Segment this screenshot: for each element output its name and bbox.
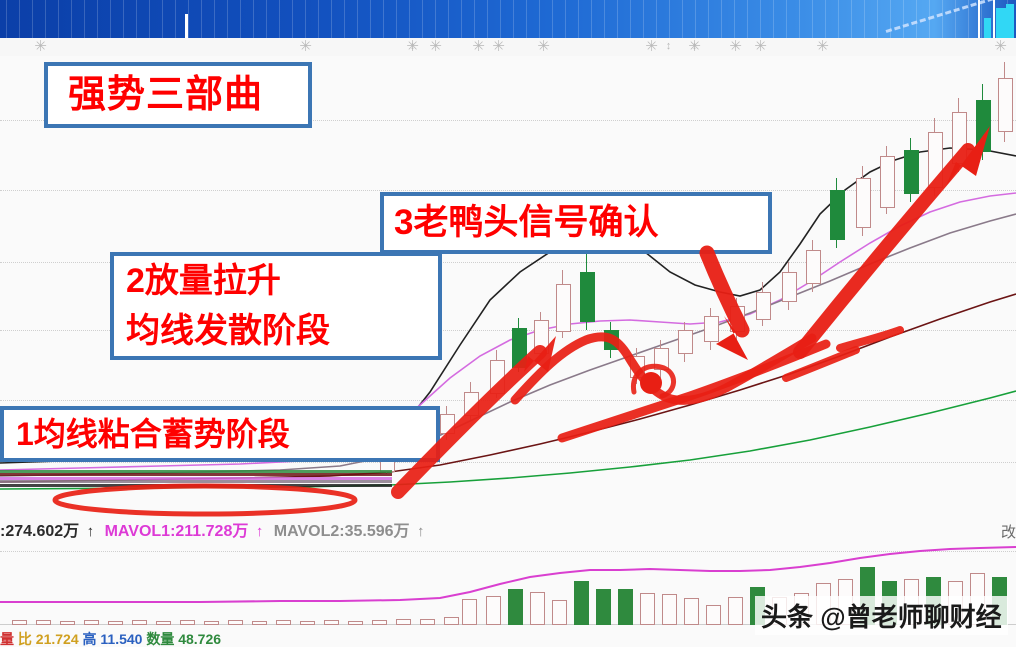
band-stripe	[890, 0, 891, 38]
candlestick	[730, 56, 743, 519]
candle-body	[464, 392, 479, 416]
band-stripe	[903, 0, 904, 38]
volume-value: :274.602万	[0, 519, 79, 545]
candle-body	[952, 112, 967, 164]
candle-body	[512, 328, 527, 368]
band-stripe	[747, 0, 748, 38]
band-stripe	[851, 0, 852, 38]
panel-edit-glyph[interactable]: 改	[1001, 521, 1016, 542]
indicator-info-bar: :274.602万 ↑ MAVOL1:211.728万 ↑ MAVOL2:35.…	[0, 519, 1016, 546]
band-stripe	[97, 0, 98, 38]
band-stripe	[773, 0, 774, 38]
star-marker-icon: ✳	[299, 40, 312, 53]
band-stripe	[487, 0, 488, 38]
band-stripe	[838, 0, 839, 38]
candle-body	[806, 250, 821, 284]
star-marker-icon: ✳	[472, 40, 485, 53]
band-stripe	[708, 0, 709, 38]
mavol1-up-arrow-icon: ↑	[253, 519, 270, 545]
candlestick	[704, 56, 717, 519]
band-stripe	[669, 0, 670, 38]
mavol1-polyline	[0, 547, 1016, 602]
band-spike	[185, 14, 188, 38]
band-stripe	[656, 0, 657, 38]
candlestick	[756, 56, 769, 519]
band-stripe	[448, 0, 449, 38]
band-stripe	[734, 0, 735, 38]
band-stripe	[84, 0, 85, 38]
candlestick	[904, 56, 917, 519]
candle-body	[604, 330, 619, 350]
band-stripe	[32, 0, 33, 38]
band-stripe	[786, 0, 787, 38]
band-stripe	[396, 0, 397, 38]
star-marker-icon: ✳	[645, 40, 658, 53]
candlestick	[556, 56, 569, 519]
mavol1-value: MAVOL1:211.728万	[105, 519, 249, 545]
annotation-title-text: 强势三部曲	[48, 66, 308, 124]
band-stripe	[682, 0, 683, 38]
band-stripe	[123, 0, 124, 38]
band-stripe	[305, 0, 306, 38]
candle-body	[904, 150, 919, 194]
candlestick	[678, 56, 691, 519]
star-marker-icon: ✳	[994, 40, 1007, 53]
candle-body	[976, 100, 991, 152]
candle-body	[830, 190, 845, 240]
candlestick	[580, 56, 593, 519]
star-marker-icon: ✳	[537, 40, 550, 53]
band-stripe	[370, 0, 371, 38]
band-stripe	[149, 0, 150, 38]
band-stripe	[760, 0, 761, 38]
candle-body	[856, 178, 871, 228]
candlestick	[604, 56, 617, 519]
band-stripe	[916, 0, 917, 38]
band-stripe	[214, 0, 215, 38]
candlestick	[630, 56, 643, 519]
band-cyan-bar	[1006, 4, 1014, 38]
band-stripe	[513, 0, 514, 38]
star-marker-icon: ✳	[816, 40, 829, 53]
band-stripe	[474, 0, 475, 38]
candle-body	[556, 284, 571, 332]
annotation-stage3-text: 3老鸭头信号确认	[384, 196, 768, 250]
candle-body	[440, 414, 455, 434]
band-cyan-bar	[984, 18, 991, 38]
band-stripe	[292, 0, 293, 38]
candle-body	[756, 292, 771, 320]
candle-body	[580, 272, 595, 322]
band-stripe	[188, 0, 189, 38]
star-marker-icon: ✳	[34, 40, 47, 53]
band-stripe	[383, 0, 384, 38]
band-stripe	[45, 0, 46, 38]
band-stripe	[422, 0, 423, 38]
band-stripe	[864, 0, 865, 38]
band-stripe	[318, 0, 319, 38]
band-stripe	[877, 0, 878, 38]
band-stripe	[71, 0, 72, 38]
candlestick	[806, 56, 819, 519]
band-stripe	[604, 0, 605, 38]
band-stripe	[591, 0, 592, 38]
annotation-stage2-line2: 均线发散阶段	[114, 306, 438, 356]
band-stripe	[695, 0, 696, 38]
annotation-stage1-text: 1均线粘合蓄势阶段	[4, 410, 436, 458]
band-stripe	[201, 0, 202, 38]
mavol2-up-arrow-icon: ↑	[414, 519, 431, 545]
band-stripe	[526, 0, 527, 38]
annotation-box-stage1: 1均线粘合蓄势阶段	[0, 406, 440, 462]
band-stripe	[331, 0, 332, 38]
band-white-separator	[993, 0, 995, 38]
candlestick	[976, 56, 989, 519]
band-stripe	[136, 0, 137, 38]
band-stripe	[955, 0, 956, 38]
candlestick	[512, 56, 525, 519]
candlestick	[654, 56, 667, 519]
updown-marker-icon: ↕	[408, 40, 417, 53]
annotation-stage2-line1: 2放量拉升	[114, 256, 438, 306]
candlestick	[952, 56, 965, 519]
band-dashed-trendline	[886, 0, 1011, 33]
band-stripe	[266, 0, 267, 38]
band-stripe	[162, 0, 163, 38]
band-stripe	[617, 0, 618, 38]
band-stripe	[799, 0, 800, 38]
band-stripe	[539, 0, 540, 38]
candlestick	[782, 56, 795, 519]
band-stripe	[942, 0, 943, 38]
candlestick	[490, 56, 503, 519]
candlestick	[928, 56, 941, 519]
candlestick	[856, 56, 869, 519]
candle-body	[630, 356, 645, 378]
band-stripe	[981, 0, 982, 38]
candlestick	[880, 56, 893, 519]
stock-chart-screenshot: ✳✳✳✳✳✳✳✳✳✳✳✳✳↕↕↕ :274.602万 ↑ MAVOL1:211.…	[0, 0, 1016, 647]
star-marker-icon: ✳	[492, 40, 505, 53]
band-stripe	[175, 0, 176, 38]
band-stripe	[6, 0, 7, 38]
candle-body	[782, 272, 797, 302]
candle-body	[704, 316, 719, 342]
star-marker-icon: ✳	[754, 40, 767, 53]
band-stripe	[721, 0, 722, 38]
annotation-box-title: 强势三部曲	[44, 62, 312, 128]
band-stripe	[578, 0, 579, 38]
candle-body	[998, 78, 1013, 132]
candle-body	[730, 306, 745, 332]
ma-consolidation-cluster	[0, 470, 392, 490]
band-stripe	[110, 0, 111, 38]
watermark: 头条 @曾老师聊财经	[755, 596, 1008, 635]
band-stripe	[565, 0, 566, 38]
candle-body	[534, 320, 549, 354]
annotation-box-stage3: 3老鸭头信号确认	[380, 192, 772, 254]
band-stripe	[19, 0, 20, 38]
band-stripe	[344, 0, 345, 38]
volume-up-arrow-icon: ↑	[84, 519, 101, 545]
updown-marker-icon: ↕	[690, 40, 699, 53]
band-white-separator	[978, 0, 980, 38]
band-stripe	[500, 0, 501, 38]
star-marker-icon: ✳	[729, 40, 742, 53]
star-marker-strip: ✳✳✳✳✳✳✳✳✳✳✳✳✳↕↕↕	[0, 38, 1016, 57]
candle-body	[490, 360, 505, 394]
ma-flat-segment	[0, 484, 392, 487]
candle-body	[654, 348, 669, 370]
star-marker-icon: ✳	[429, 40, 442, 53]
candlestick	[464, 56, 477, 519]
candlestick	[534, 56, 547, 519]
band-stripe	[409, 0, 410, 38]
band-stripe	[630, 0, 631, 38]
band-stripe	[279, 0, 280, 38]
top-blue-volume-band	[0, 0, 1016, 38]
candle-body	[880, 156, 895, 208]
updown-marker-icon: ↕	[664, 40, 673, 53]
band-stripe	[357, 0, 358, 38]
band-stripe	[58, 0, 59, 38]
band-stripe	[240, 0, 241, 38]
band-stripe	[643, 0, 644, 38]
annotation-box-stage2: 2放量拉升 均线发散阶段	[110, 252, 442, 360]
candlestick	[830, 56, 843, 519]
band-stripe	[552, 0, 553, 38]
band-stripe	[461, 0, 462, 38]
candlestick	[998, 56, 1011, 519]
band-stripe	[812, 0, 813, 38]
candle-body	[928, 132, 943, 188]
band-stripe	[253, 0, 254, 38]
band-stripe	[435, 0, 436, 38]
mavol2-value: MAVOL2:35.596万	[274, 519, 410, 545]
candle-body	[678, 330, 693, 354]
band-stripe	[825, 0, 826, 38]
band-stripe	[227, 0, 228, 38]
